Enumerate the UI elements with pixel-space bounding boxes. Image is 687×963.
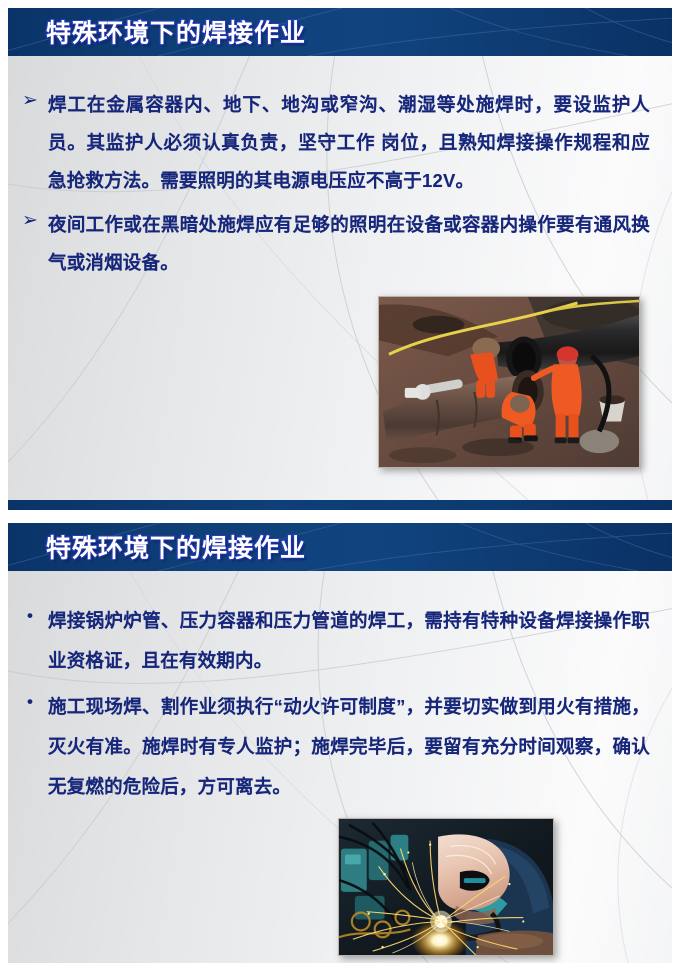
slide-1-title: 特殊环境下的焊接作业 [46, 13, 306, 49]
welder-sparks-photo [338, 818, 554, 956]
slide-2-bullet-1-text: 焊接锅炉炉管、压力容器和压力管道的焊工，需持有特种设备焊接操作职业资格证，且在有… [48, 601, 650, 681]
arrow-bullet-icon: ➢ [22, 86, 48, 116]
slide-2-bullet-2-text: 施工现场焊、割作业须执行“动火许可制度”，并要切实做到用火有措施，灭火有准。施焊… [48, 687, 650, 807]
slide-1-bullet-2-text: 夜间工作或在黑暗处施焊应有足够的照明在设备或容器内操作要有通风换气或消烟设备。 [48, 206, 650, 282]
slide-2-bullet-2: • 施工现场焊、割作业须执行“动火许可制度”，并要切实做到用火有措施，灭火有准。… [22, 687, 650, 807]
slide-1-title-band: 特殊环境下的焊接作业 [8, 8, 672, 56]
arrow-bullet-icon: ➢ [22, 206, 48, 236]
slide-2-bullet-1: • 焊接锅炉炉管、压力容器和压力管道的焊工，需持有特种设备焊接操作职业资格证，且… [22, 601, 650, 681]
slides-page: ➢ 焊工在金属容器内、地下、地沟或窄沟、潮湿等处施焊时，要设监护人员。其监护人必… [0, 0, 687, 963]
slide-2-title-band: 特殊环境下的焊接作业 [8, 523, 672, 571]
slide-1-bullet-2: ➢ 夜间工作或在黑暗处施焊应有足够的照明在设备或容器内操作要有通风换气或消烟设备… [22, 206, 650, 282]
slide-2-title: 特殊环境下的焊接作业 [46, 528, 306, 564]
pipeline-welding-photo [378, 296, 640, 468]
slide-1-bullet-1: ➢ 焊工在金属容器内、地下、地沟或窄沟、潮湿等处施焊时，要设监护人员。其监护人必… [22, 86, 650, 200]
dot-bullet-icon: • [22, 687, 48, 717]
slide-1-bottom-accent-bar [8, 500, 672, 510]
dot-bullet-icon: • [22, 601, 48, 631]
slide-1-bullet-1-text: 焊工在金属容器内、地下、地沟或窄沟、潮湿等处施焊时，要设监护人员。其监护人必须认… [48, 86, 650, 200]
